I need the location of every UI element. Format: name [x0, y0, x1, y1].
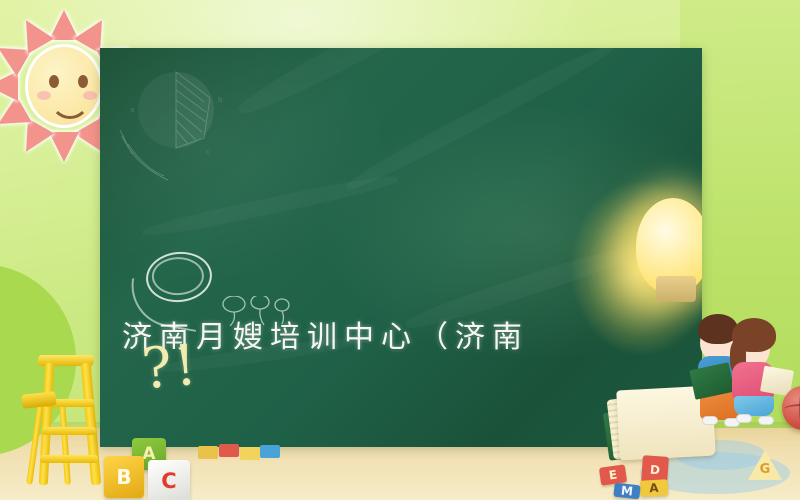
block-g-letter: G [758, 462, 772, 477]
page-title: 济南月嫂培训中心（济南 月嫂培训服务公司） [122, 193, 682, 447]
block-c: C [148, 460, 190, 500]
floor-letter-blocks: E D A M [600, 450, 750, 500]
block-b-letter: B [104, 456, 144, 498]
banner-image: a b c 济南月嫂培训中心（济南 月嫂培训服务公司） [0, 0, 800, 500]
floor-block-2: A [640, 479, 669, 496]
block-g: G [748, 450, 782, 480]
sun-ray [49, 132, 79, 162]
block-b: B [104, 456, 144, 498]
floor-block-3: M [613, 483, 640, 500]
block-c-letter: C [148, 460, 190, 500]
abc-blocks: A B C [104, 440, 244, 498]
svg-text:b: b [218, 96, 223, 104]
sun-face [25, 44, 103, 128]
floor-block-0: E [599, 464, 627, 485]
mini-blocks [198, 444, 288, 464]
question-exclamation-mark: ?! [140, 338, 201, 399]
svg-text:c: c [206, 148, 210, 156]
balloon-doodle-icon [220, 296, 310, 326]
children-illustration: G [700, 300, 800, 470]
title-line-1: 济南月嫂培训中心（济南 [122, 309, 682, 367]
svg-text:a: a [130, 106, 134, 114]
